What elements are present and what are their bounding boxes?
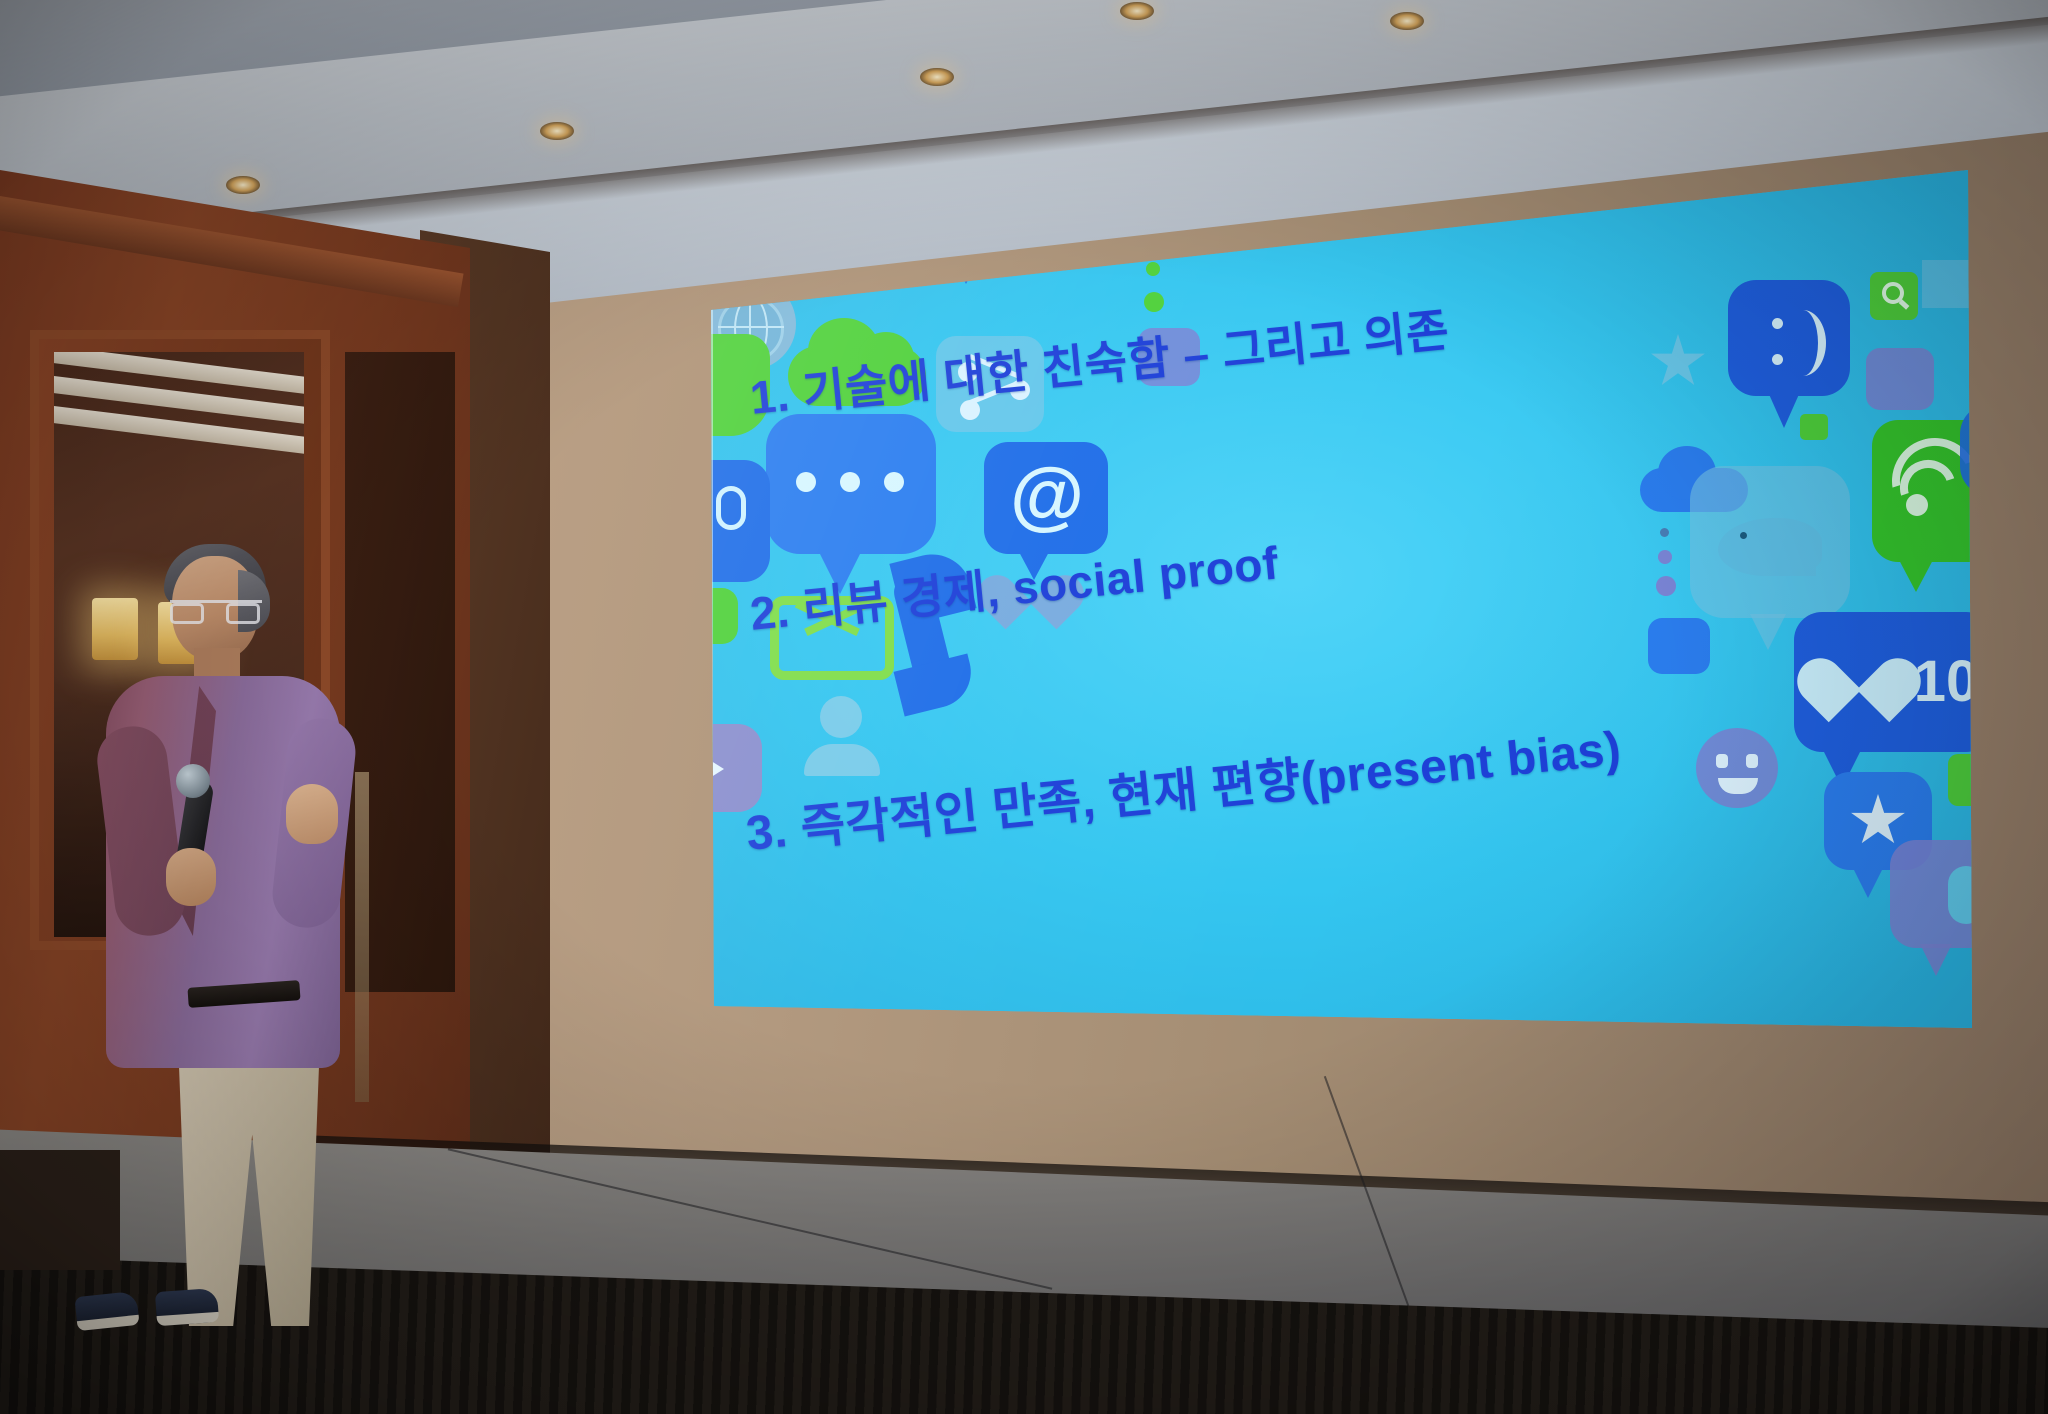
presenter	[70, 548, 370, 1248]
ceiling-downlight-icon	[226, 176, 260, 194]
ceiling-downlight-icon	[1390, 12, 1424, 30]
left-hand	[166, 848, 216, 906]
shoe	[155, 1288, 219, 1326]
conference-room-photo: 10	[0, 0, 2048, 1414]
shoe	[74, 1291, 139, 1331]
ceiling-downlight-icon	[1120, 2, 1154, 20]
right-hand	[286, 784, 338, 844]
microphone-head	[176, 764, 210, 798]
glasses-icon	[170, 600, 262, 622]
ceiling-downlight-icon	[920, 68, 954, 86]
ceiling-downlight-icon	[540, 122, 574, 140]
